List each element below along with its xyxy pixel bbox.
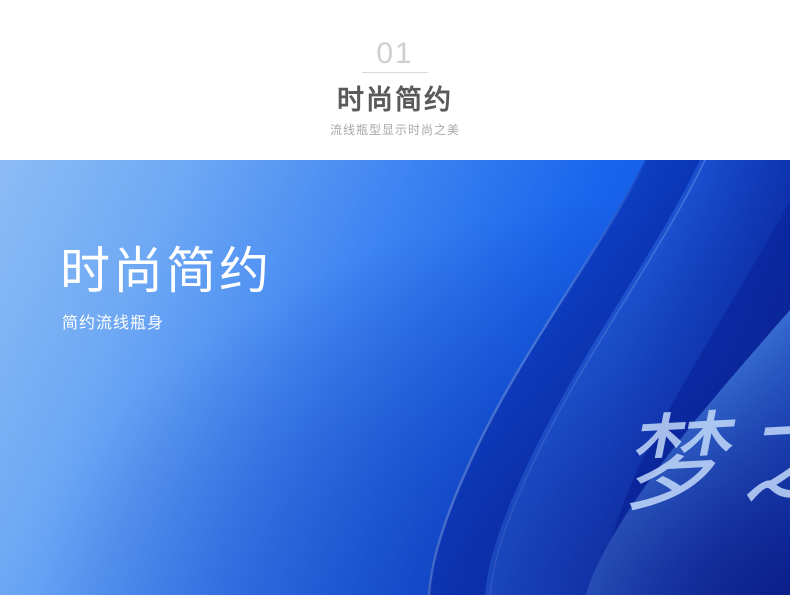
page-subtitle: 流线瓶型显示时尚之美 [0, 122, 790, 138]
page-title: 时尚简约 [0, 84, 790, 116]
banner-subtitle: 简约流线瓶身 [62, 313, 164, 335]
promo-page: 01 时尚简约 流线瓶型显示时尚之美 [0, 0, 790, 595]
header-divider [362, 72, 428, 73]
hero-banner: 时尚简约 简约流线瓶身 梦之 [0, 160, 790, 595]
banner-title: 时尚简约 [60, 242, 272, 300]
page-header: 01 时尚简约 流线瓶型显示时尚之美 [0, 0, 790, 160]
section-number: 01 [0, 38, 790, 70]
banner-background-graphic [0, 160, 790, 595]
brand-watermark: 梦之 [617, 398, 790, 522]
